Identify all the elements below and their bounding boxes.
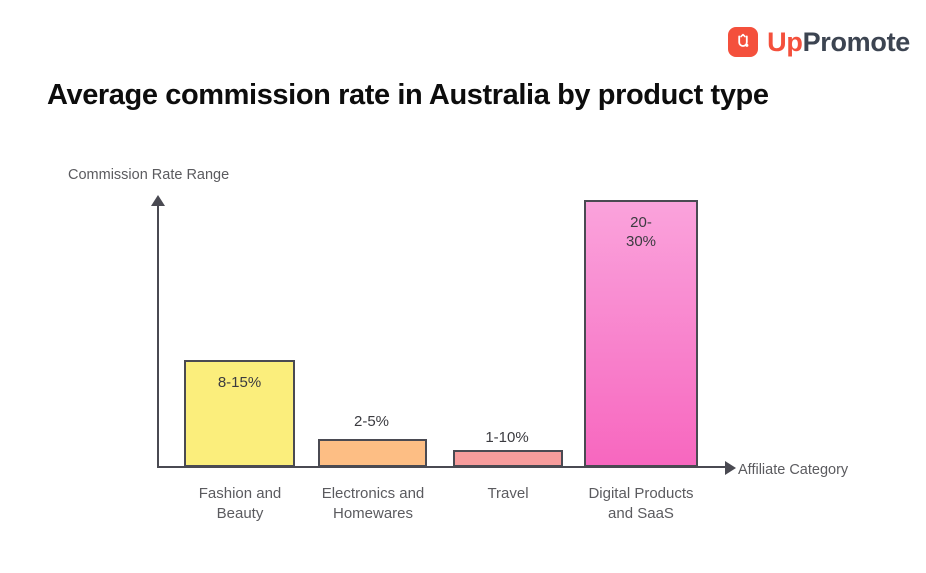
category-label-line2: Homewares [297,504,449,524]
bar-travel [453,450,563,467]
bar-value-label-line1: 20- [586,214,696,233]
bar-value-label-travel: 1-10% [452,429,562,446]
bar-value-label-line2: 30% [586,233,696,252]
category-label-line2: and SaaS [565,504,717,524]
category-label-line1: Travel [433,484,583,504]
bar-value-label: 20- 30% [586,214,696,252]
bar-digital-products-and-saas: 20- 30% [584,200,698,467]
category-label-digital-products-and-saas: Digital Products and SaaS [565,484,717,525]
category-label-line1: Fashion and [165,484,315,504]
plot-area: 8-15% Fashion and Beauty 2-5% Electronic… [0,0,926,573]
bar-chart: Commission Rate Range Affiliate Category… [0,0,926,573]
category-label-line1: Electronics and [297,484,449,504]
category-label-fashion-and-beauty: Fashion and Beauty [165,484,315,525]
category-label-line2: Beauty [165,504,315,524]
category-label-travel: Travel [433,484,583,504]
bar-electronics-and-homewares [318,439,427,467]
bar-fashion-and-beauty: 8-15% [184,360,295,467]
bar-value-label: 8-15% [186,374,293,393]
category-label-line1: Digital Products [565,484,717,504]
category-label-electronics-and-homewares: Electronics and Homewares [297,484,449,525]
bar-value-label-electronics-and-homewares: 2-5% [315,413,428,430]
